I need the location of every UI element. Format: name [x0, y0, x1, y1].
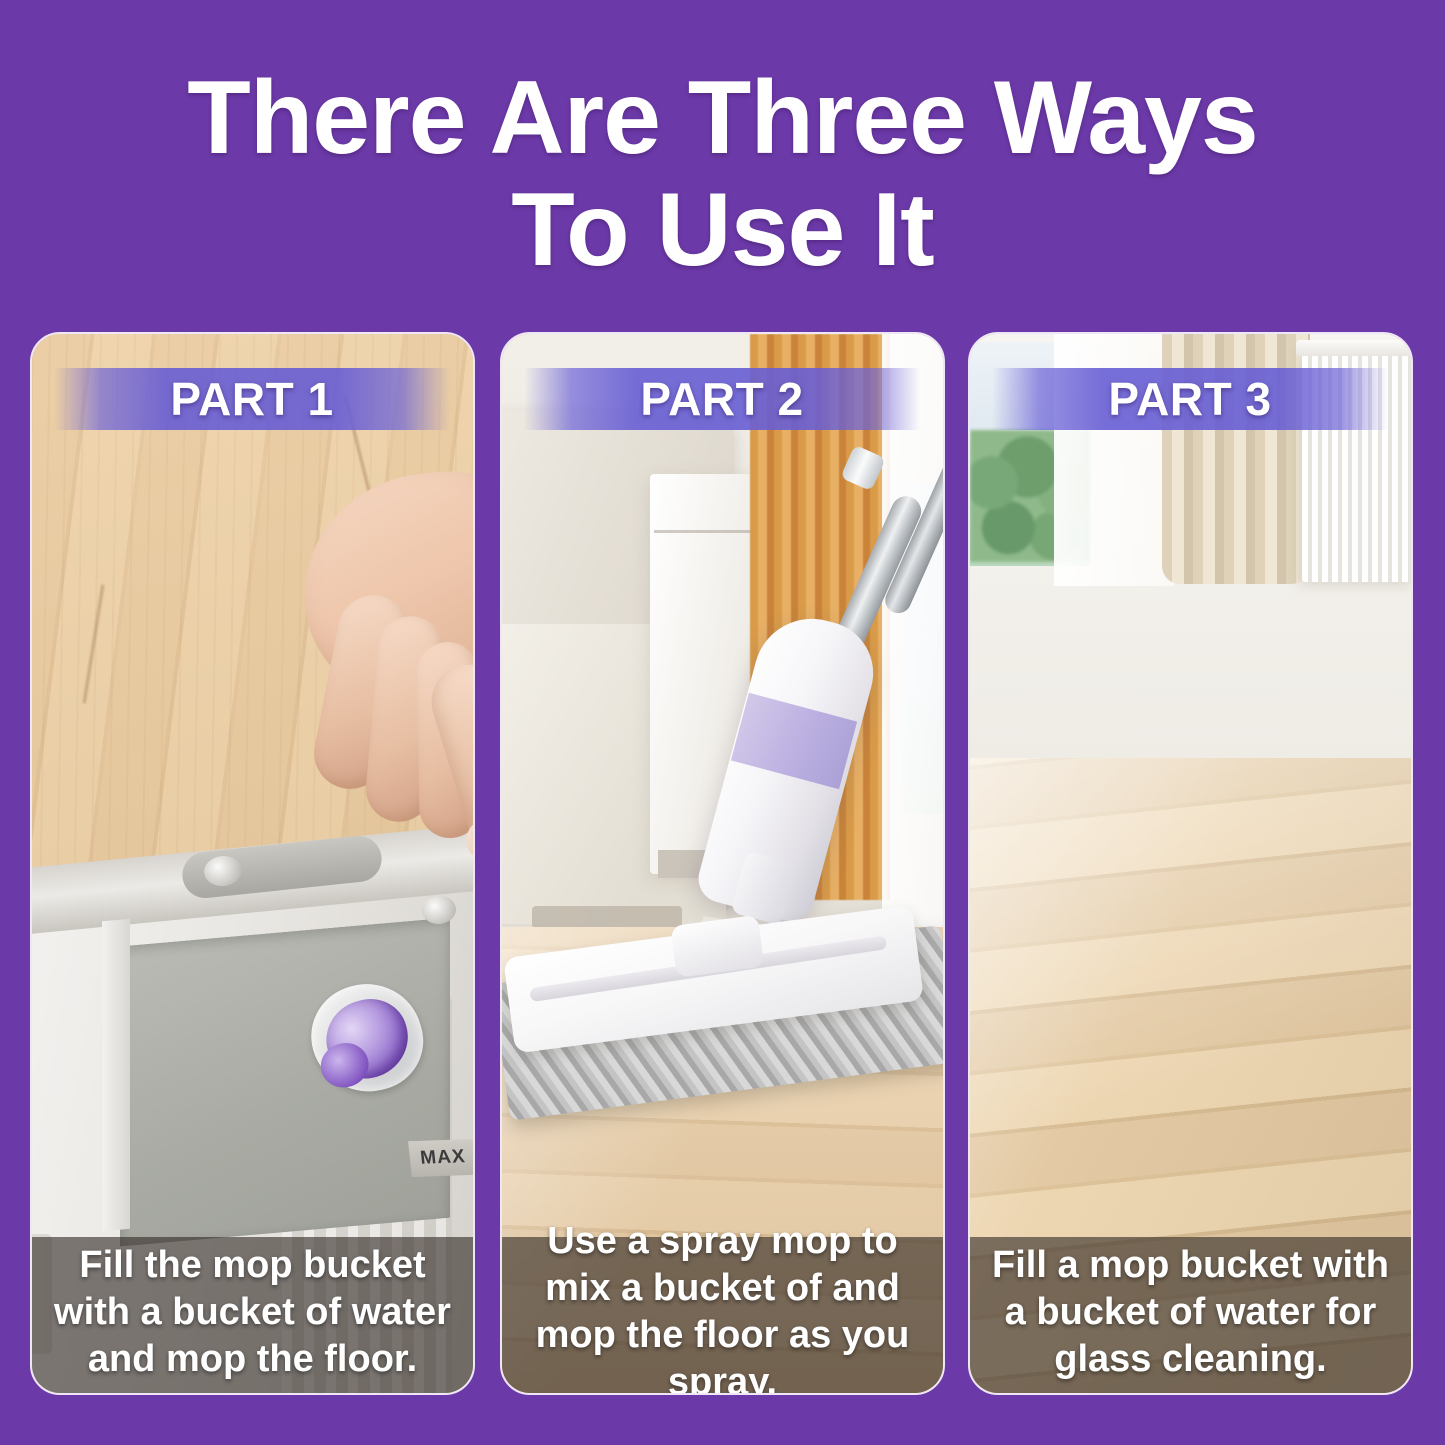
- caption-part-1-text: Fill the mop bucket with a bucket of wat…: [42, 1242, 463, 1383]
- bucket-divider: [102, 919, 130, 1231]
- page-title-line-1: There Are Three Ways: [0, 62, 1445, 174]
- page-title-line-2: To Use It: [0, 174, 1445, 286]
- caption-part-2: Use a spray mop to mix a bucket of and m…: [502, 1237, 943, 1393]
- badge-part-1: PART 1: [54, 368, 450, 430]
- cabinet-seam: [654, 530, 758, 533]
- radiator-top: [1296, 340, 1411, 356]
- caption-part-2-text: Use a spray mop to mix a bucket of and m…: [512, 1218, 933, 1395]
- hand: [268, 466, 473, 896]
- photo-part-1: MAX: [32, 334, 473, 1393]
- panel-part-2: PART 2 Use a spray mop to mix a bucket o…: [500, 332, 945, 1395]
- caption-part-3-text: Fill a mop bucket with a bucket of water…: [980, 1242, 1401, 1383]
- max-fill-label: MAX: [408, 1139, 473, 1177]
- badge-part-1-label: PART 1: [170, 372, 333, 426]
- badge-part-2-label: PART 2: [640, 372, 803, 426]
- badge-part-2: PART 2: [524, 368, 920, 430]
- panel-part-3: PART 3 Fill a mop bucket with a bucket o…: [968, 332, 1413, 1395]
- badge-part-3: PART 3: [992, 368, 1388, 430]
- panel-part-1: MAX PART 1 Fill the mop bucket with a bu…: [30, 332, 475, 1395]
- caption-part-3: Fill a mop bucket with a bucket of water…: [970, 1237, 1411, 1393]
- photo-part-3: [970, 334, 1411, 1393]
- badge-part-3-label: PART 3: [1108, 372, 1271, 426]
- panel-row: MAX PART 1 Fill the mop bucket with a bu…: [0, 332, 1445, 1397]
- page-title: There Are Three Ways To Use It: [0, 62, 1445, 286]
- sofa-foot: [532, 906, 682, 928]
- caption-part-1: Fill the mop bucket with a bucket of wat…: [32, 1237, 473, 1393]
